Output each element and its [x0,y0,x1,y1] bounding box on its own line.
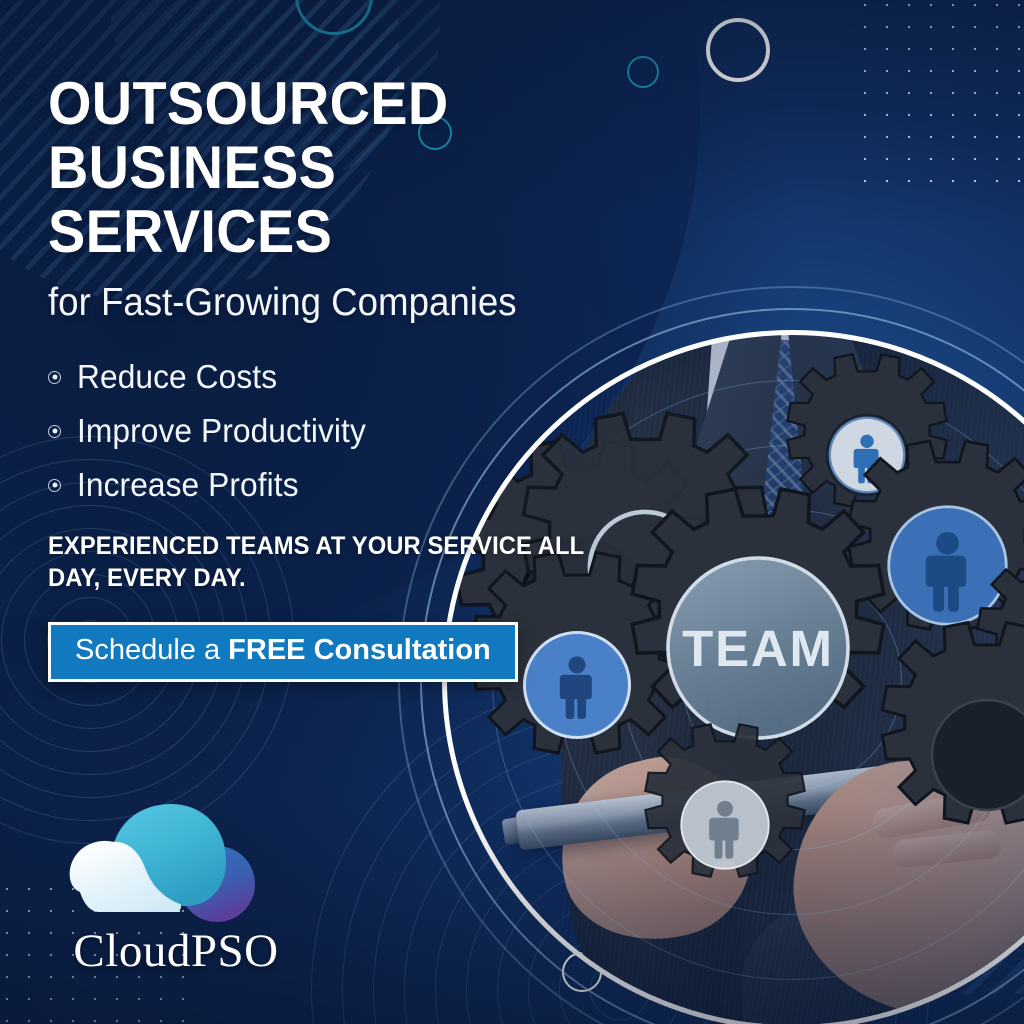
subheadline: for Fast-Growing Companies [48,281,612,325]
tagline: EXPERIENCED TEAMS AT YOUR SERVICE ALL DA… [48,530,618,594]
gear-person-bottom [630,730,820,920]
benefits-list: Reduce Costs Improve Productivity Increa… [48,358,648,504]
brand-name: CloudPSO [52,924,300,978]
list-item: Reduce Costs [48,358,648,396]
list-item: Increase Profits [48,466,648,504]
brand-logo[interactable]: CloudPSO [52,800,332,978]
bullet-label: Reduce Costs [77,358,277,396]
bullet-label: Increase Profits [77,466,299,504]
bullet-dot-icon [48,371,61,384]
headline-line-2: BUSINESS SERVICES [48,136,606,264]
headline-line-1: OUTSOURCED [48,70,449,137]
advertisement-banner: TEAM [0,0,1024,1024]
schedule-consultation-button[interactable]: Schedule a FREE Consultation [48,622,518,681]
bullet-dot-icon [48,425,61,438]
bullet-label: Improve Productivity [77,412,366,450]
gear-team-label: TEAM [682,620,834,677]
cloud-logo-icon [52,800,300,922]
cta-prefix: Schedule a [75,634,228,666]
copy-block: OUTSOURCED BUSINESS SERVICES for Fast-Gr… [48,72,648,682]
list-item: Improve Productivity [48,412,648,450]
page-title: OUTSOURCED BUSINESS SERVICES [48,72,606,265]
bullet-dot-icon [48,479,61,492]
cta-emphasis: FREE Consultation [228,634,491,666]
